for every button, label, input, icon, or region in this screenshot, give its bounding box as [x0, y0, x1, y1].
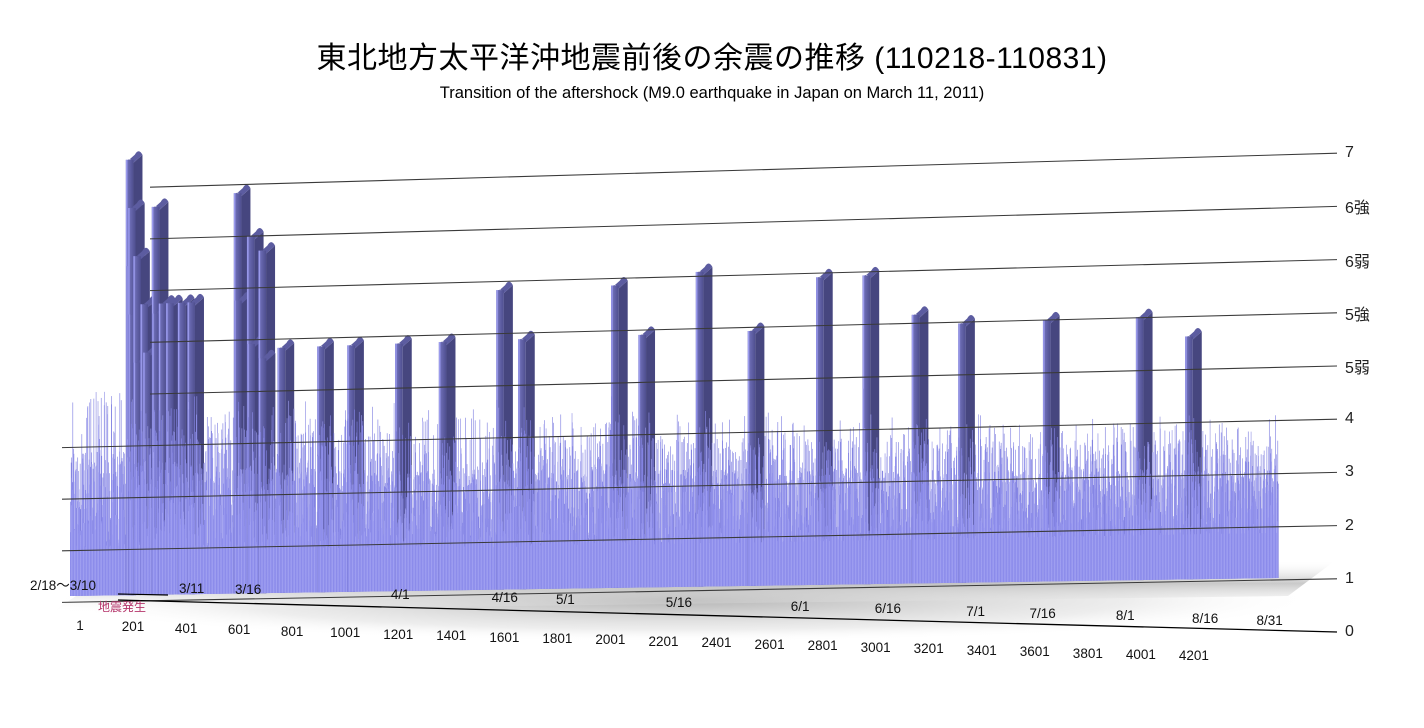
x-axis-index-17: 3401 — [967, 643, 997, 658]
x-axis-index-8: 1601 — [489, 630, 519, 645]
x-axis-date-5: 5/1 — [556, 592, 575, 607]
x-axis-index-14: 2801 — [808, 638, 838, 653]
x-axis-index-20: 4001 — [1126, 647, 1156, 662]
x-axis-date-3: 4/1 — [391, 587, 410, 602]
x-axis-index-15: 3001 — [861, 640, 891, 655]
y-axis-tick-6: 3 — [1345, 463, 1354, 481]
x-axis-date-13: 8/31 — [1257, 613, 1283, 628]
y-axis-tick-7: 2 — [1345, 517, 1354, 535]
y-axis-tick-1: 6強 — [1345, 194, 1370, 218]
x-axis-index-18: 3601 — [1020, 644, 1050, 659]
y-axis-tick-5: 4 — [1345, 410, 1354, 428]
x-axis-index-10: 2001 — [595, 632, 625, 647]
x-axis-index-11: 2201 — [648, 634, 678, 649]
y-axis-tick-2: 6弱 — [1345, 248, 1370, 272]
earthquake-occurrence-annotation: 地震発生 — [98, 598, 146, 615]
x-axis-index-6: 1201 — [383, 627, 413, 642]
y-axis-tick-8: 1 — [1345, 570, 1354, 588]
x-axis-index-9: 1801 — [542, 631, 572, 646]
x-axis-date-4: 4/16 — [492, 590, 518, 605]
x-axis-date-9: 7/1 — [966, 604, 985, 619]
plot-area: 76強6弱5強5弱43210 2/18〜3/103/113/164/14/165… — [0, 0, 1424, 728]
x-axis-index-0: 1 — [76, 618, 84, 633]
x-axis-index-21: 4201 — [1179, 648, 1209, 663]
x-axis-date-12: 8/16 — [1192, 611, 1218, 626]
x-axis-date-10: 7/16 — [1030, 606, 1056, 621]
x-axis-index-19: 3801 — [1073, 646, 1103, 661]
y-axis-tick-0: 7 — [1345, 144, 1354, 162]
x-axis-index-13: 2601 — [755, 637, 785, 652]
x-axis-date-6: 5/16 — [666, 595, 692, 610]
x-axis-date-7: 6/1 — [791, 599, 810, 614]
y-axis-tick-9: 0 — [1345, 623, 1354, 641]
x-axis-index-4: 801 — [281, 624, 304, 639]
y-axis-tick-3: 5強 — [1345, 301, 1370, 325]
y-axis-tick-4: 5弱 — [1345, 354, 1370, 378]
x-axis-date-1: 3/11 — [179, 581, 204, 596]
x-axis-index-3: 601 — [228, 622, 251, 637]
bars-layer — [70, 151, 1279, 596]
x-axis-index-5: 1001 — [330, 625, 360, 640]
x-axis-index-2: 401 — [175, 621, 198, 636]
x-axis-index-1: 201 — [122, 619, 145, 634]
x-axis-date-11: 8/1 — [1116, 608, 1135, 623]
x-axis-index-12: 2401 — [701, 635, 731, 650]
x-axis-index-7: 1401 — [436, 628, 466, 643]
x-axis-index-16: 3201 — [914, 641, 944, 656]
x-axis-date-0: 2/18〜3/10 — [30, 574, 96, 594]
earthquake-aftershock-chart: 東北地方太平洋沖地震前後の余震の推移 (110218-110831) Trans… — [0, 0, 1424, 728]
x-axis-date-2: 3/16 — [235, 582, 261, 597]
x-axis-date-8: 6/16 — [875, 601, 901, 616]
